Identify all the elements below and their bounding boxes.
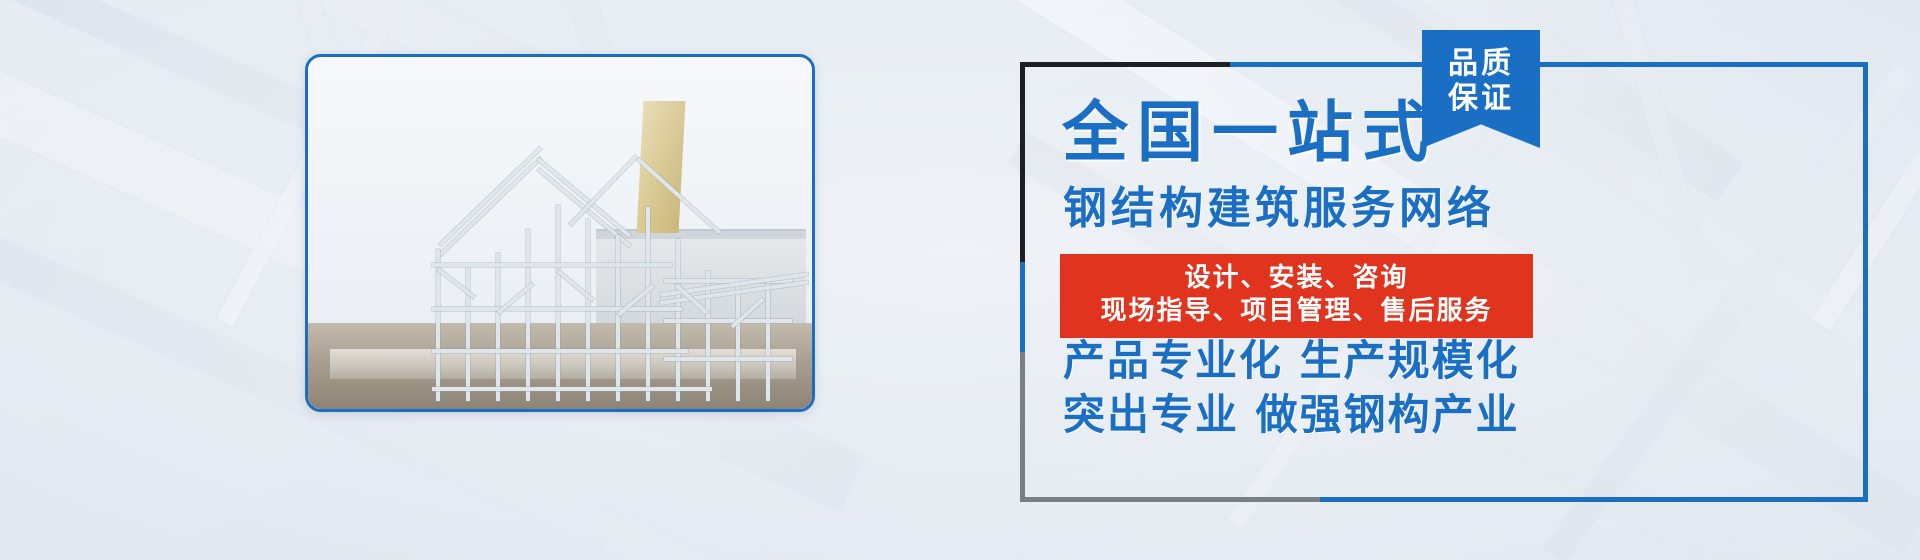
slogan-line-1: 产品专业化 生产规模化 — [1063, 340, 1520, 382]
frame-accent-bottom-left — [1020, 352, 1025, 502]
banner-headline: 全国一站式 — [1062, 100, 1437, 166]
project-photo-card — [305, 54, 815, 412]
banner-subheadline: 钢结构建筑服务网络 — [1063, 187, 1495, 231]
service-line-2: 现场指导、项目管理、售后服务 — [1060, 295, 1533, 328]
badge-line-2: 保证 — [1448, 81, 1514, 116]
service-highlight-box: 设计、安装、咨询 现场指导、项目管理、售后服务 — [1060, 254, 1533, 338]
house-steel-frame-graphic — [308, 57, 812, 409]
steel-frame-house-photo — [308, 57, 812, 409]
promotional-banner: 全国一站式 钢结构建筑服务网络 设计、安装、咨询 现场指导、项目管理、售后服务 … — [0, 0, 1920, 560]
service-line-1: 设计、安装、咨询 — [1060, 262, 1533, 295]
slogan-line-2: 突出专业 做强钢构产业 — [1063, 394, 1520, 436]
frame-accent-left — [1020, 62, 1025, 262]
badge-line-1: 品质 — [1448, 46, 1514, 81]
